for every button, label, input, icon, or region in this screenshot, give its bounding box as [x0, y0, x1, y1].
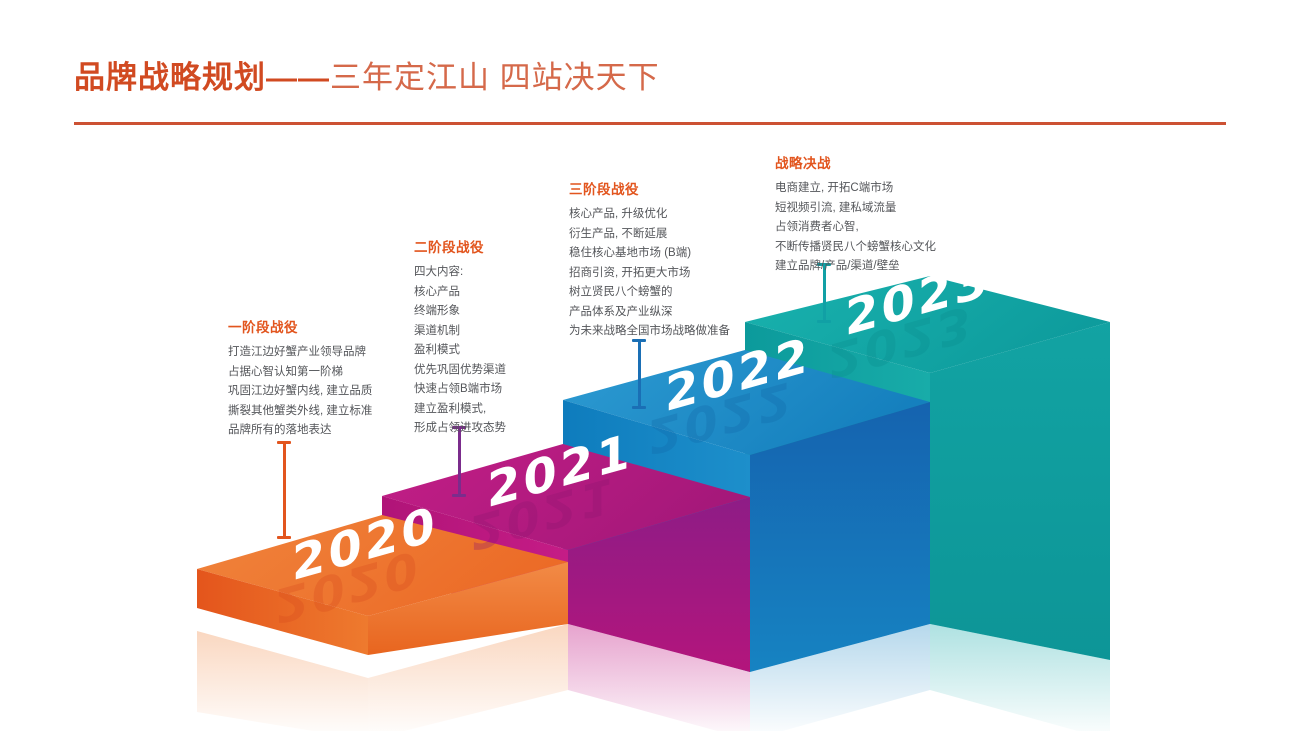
stage-line: 招商引资, 开拓更大市场	[569, 264, 730, 284]
stage-line: 电商建立, 开拓C端市场	[775, 179, 936, 199]
connector-pin-2022	[632, 338, 646, 410]
stage-line: 终端形象	[414, 302, 506, 322]
stage-line: 巩固江边好蟹内线, 建立品质	[228, 382, 372, 402]
stage-line: 核心产品, 升级优化	[569, 205, 730, 225]
stage-line: 四大内容:	[414, 263, 506, 283]
stage-line: 产品体系及产业纵深	[569, 303, 730, 323]
stage-line: 为未来战略全国市场战略做准备	[569, 322, 730, 342]
stage-block-three: 三阶段战役 核心产品, 升级优化 衍生产品, 不断延展 稳住核心基地市场 (B端…	[569, 178, 730, 342]
stage-line: 渠道机制	[414, 322, 506, 342]
stage-line: 快速占领B端市场	[414, 380, 506, 400]
step-2023-side	[930, 322, 1110, 660]
stage-heading: 三阶段战役	[569, 178, 730, 198]
stage-line: 优先巩固优势渠道	[414, 361, 506, 381]
stage-heading: 二阶段战役	[414, 236, 506, 256]
stage-block-four: 战略决战 电商建立, 开拓C端市场 短视频引流, 建私域流量 占领消费者心智, …	[775, 152, 936, 277]
connector-cap-bottom	[277, 536, 291, 539]
stage-line: 撕裂其他蟹类外线, 建立标准	[228, 402, 372, 422]
stage-line: 打造江边好蟹产业领导品牌	[228, 343, 372, 363]
connector-pin-2020	[277, 440, 291, 540]
stage-line: 衍生产品, 不断延展	[569, 225, 730, 245]
connector-bar	[638, 341, 641, 407]
connector-bar	[283, 443, 286, 537]
stage-line: 形成占领进攻态势	[414, 419, 506, 439]
stage-line: 占据心智认知第一阶梯	[228, 363, 372, 383]
connector-cap-bottom	[452, 494, 466, 497]
stage-line: 建立品牌/产品/渠道/壁垒	[775, 257, 936, 277]
stage-line: 核心产品	[414, 283, 506, 303]
stage-line: 树立贤民八个螃蟹的	[569, 283, 730, 303]
connector-cap-bottom	[632, 406, 646, 409]
staircase-svg	[0, 0, 1300, 731]
stage-heading: 一阶段战役	[228, 316, 372, 336]
stage-line: 盈利模式	[414, 341, 506, 361]
stage-heading: 战略决战	[775, 152, 936, 172]
stage-line: 品牌所有的落地表达	[228, 421, 372, 441]
stage-line: 占领消费者心智,	[775, 218, 936, 238]
staircase-diagram: 2020 2020 2021 2021 2022 2022 2023 2023	[0, 0, 1300, 731]
stage-line: 短视频引流, 建私域流量	[775, 199, 936, 219]
stage-line: 稳住核心基地市场 (B端)	[569, 244, 730, 264]
stage-line: 不断传播贤民八个螃蟹核心文化	[775, 238, 936, 258]
connector-cap-bottom	[817, 320, 831, 323]
stage-block-two: 二阶段战役 四大内容: 核心产品 终端形象 渠道机制 盈利模式 优先巩固优势渠道…	[414, 236, 506, 439]
stage-block-one: 一阶段战役 打造江边好蟹产业领导品牌 占据心智认知第一阶梯 巩固江边好蟹内线, …	[228, 316, 372, 441]
stage-line: 建立盈利模式,	[414, 400, 506, 420]
